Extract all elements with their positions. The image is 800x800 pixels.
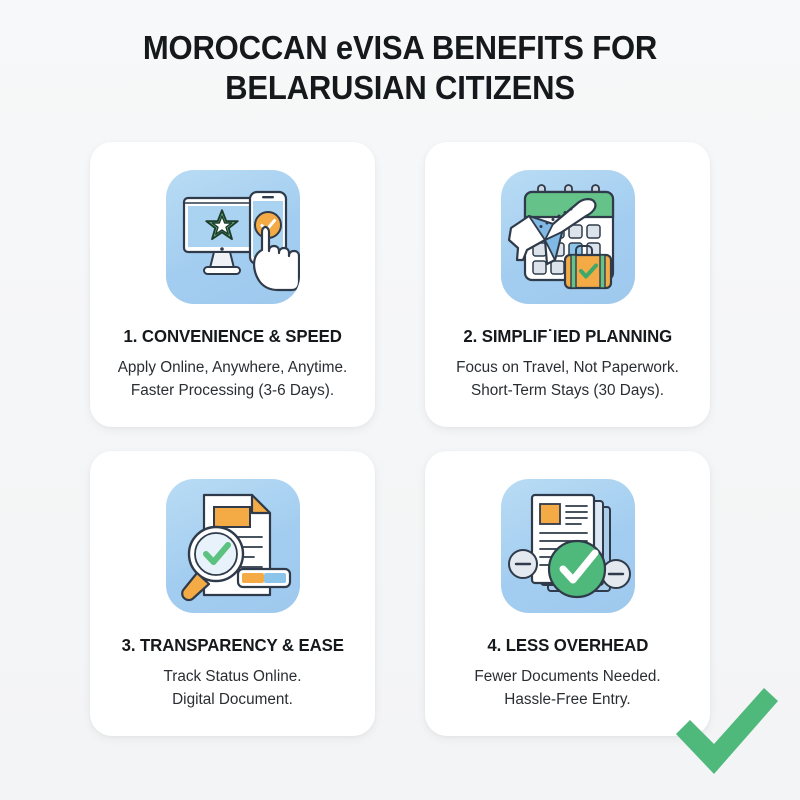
benefit-card-heading: 3. TRANSPARENCY & EASE bbox=[121, 635, 343, 655]
page-title-line-2: BELARUSIAN CITIZENS bbox=[80, 68, 719, 108]
page-title-line-1: MOROCCAN eVISA BENEFITS FOR bbox=[80, 28, 719, 68]
benefit-card-body-line-1: Track Status Online. bbox=[163, 665, 301, 688]
calendar-airplane-suitcase-icon bbox=[501, 170, 635, 304]
page-title: MOROCCAN eVISA BENEFITS FOR BELARUSIAN C… bbox=[60, 28, 740, 108]
benefit-card-body-line-2: Short-Term Stays (30 Days). bbox=[456, 379, 679, 402]
benefits-grid: 1. CONVENIENCE & SPEED Apply Online, Any… bbox=[90, 142, 710, 736]
benefit-card-body-line-1: Focus on Travel, Not Paperwork. bbox=[456, 356, 679, 379]
benefit-card-body-line-1: Apply Online, Anywhere, Anytime. bbox=[118, 356, 348, 379]
benefit-card-body-line-2: Hassle-Free Entry. bbox=[474, 688, 660, 711]
benefit-card-body-line-2: Digital Document. bbox=[163, 688, 301, 711]
benefit-card-less-overhead[interactable]: 4. LESS OVERHEAD Fewer Documents Needed.… bbox=[425, 451, 710, 736]
benefit-card-heading: 1. CONVENIENCE & SPEED bbox=[123, 326, 341, 346]
benefit-card-convenience-speed[interactable]: 1. CONVENIENCE & SPEED Apply Online, Any… bbox=[90, 142, 375, 427]
infographic-root: MOROCCAN eVISA BENEFITS FOR BELARUSIAN C… bbox=[0, 0, 800, 800]
benefit-card-simplified-planning[interactable]: 2. SIMPLIF˙IED PLANNING Focus on Travel,… bbox=[425, 142, 710, 427]
benefit-card-body: Focus on Travel, Not Paperwork. Short-Te… bbox=[456, 356, 679, 402]
benefit-card-body: Fewer Documents Needed. Hassle-Free Entr… bbox=[474, 665, 660, 711]
benefit-card-transparency-ease[interactable]: 3. TRANSPARENCY & EASE Track Status Onli… bbox=[90, 451, 375, 736]
benefit-card-heading: 4. LESS OVERHEAD bbox=[487, 635, 648, 655]
computer-mobile-evisa-icon bbox=[166, 170, 300, 304]
benefit-card-body-line-1: Fewer Documents Needed. bbox=[474, 665, 660, 688]
benefit-card-body-line-2: Faster Processing (3-6 Days). bbox=[118, 379, 348, 402]
document-magnifier-progress-icon bbox=[166, 479, 300, 613]
benefit-card-heading: 2. SIMPLIF˙IED PLANNING bbox=[463, 326, 672, 346]
stacked-documents-check-icon bbox=[501, 479, 635, 613]
benefit-card-body: Track Status Online. Digital Document. bbox=[163, 665, 301, 711]
benefit-card-body: Apply Online, Anywhere, Anytime. Faster … bbox=[118, 356, 348, 402]
